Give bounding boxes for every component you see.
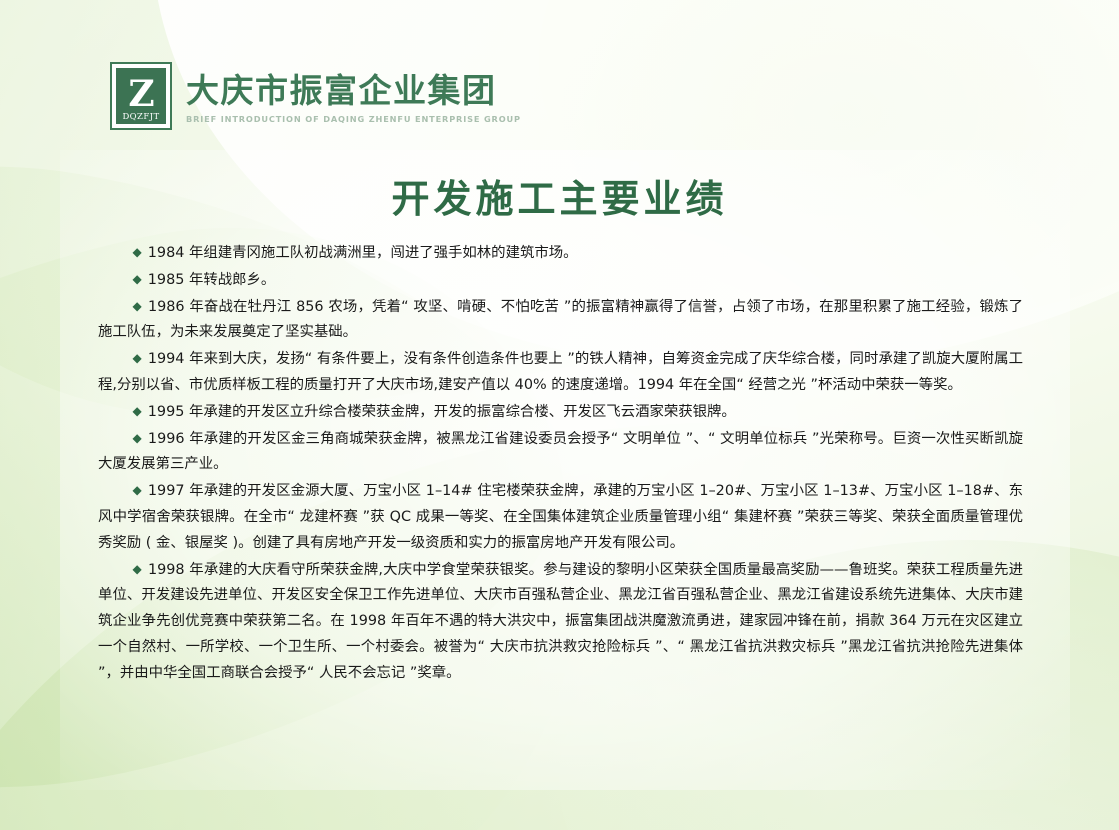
paragraph-text: 1985 年转战郎乡。: [148, 272, 276, 288]
paragraph-y1997: ◆1997 年承建的开发区金源大厦、万宝小区 1–14# 住宅楼荣获金牌，承建的…: [98, 478, 1023, 556]
logo-letter-z: Z: [128, 77, 153, 111]
bullet-diamond-icon: ◆: [133, 404, 142, 418]
page-title: 开发施工主要业绩: [0, 168, 1119, 223]
company-logo-icon: Z DQZFJT: [110, 62, 172, 130]
slide-page: Z DQZFJT 大庆市振富企业集团 BRIEF INTRODUCTION OF…: [0, 0, 1119, 830]
brand-header: Z DQZFJT 大庆市振富企业集团 BRIEF INTRODUCTION OF…: [110, 62, 521, 130]
paragraph-y1986: ◆1986 年奋战在牡丹江 856 农场，凭着“ 攻坚、啃硬、不怕吃苦 ”的振富…: [98, 294, 1023, 347]
logo-abbreviation: DQZFJT: [122, 113, 159, 122]
brand-text-block: 大庆市振富企业集团 BRIEF INTRODUCTION OF DAQING Z…: [186, 62, 521, 124]
paragraph-y1985: ◆1985 年转战郎乡。: [98, 267, 1023, 294]
paragraph-text: 1995 年承建的开发区立升综合楼荣获金牌，开发的振富综合楼、开发区飞云酒家荣获…: [148, 404, 736, 420]
bullet-diamond-icon: ◆: [133, 272, 142, 286]
paragraph-y1996: ◆1996 年承建的开发区金三角商城荣获金牌，被黑龙江省建设委员会授予“ 文明单…: [98, 426, 1023, 479]
bullet-diamond-icon: ◆: [133, 431, 142, 445]
bullet-diamond-icon: ◆: [133, 245, 142, 259]
brand-name-cn: 大庆市振富企业集团: [186, 74, 521, 109]
bullet-diamond-icon: ◆: [133, 299, 142, 313]
paragraph-y1998: ◆1998 年承建的大庆看守所荣获金牌,大庆中学食堂荣获银奖。参与建设的黎明小区…: [98, 557, 1023, 687]
paragraph-text: 1997 年承建的开发区金源大厦、万宝小区 1–14# 住宅楼荣获金牌，承建的万…: [98, 483, 1023, 551]
paragraph-text: 1984 年组建青冈施工队初战满洲里，闯进了强手如林的建筑市场。: [148, 245, 578, 261]
bullet-diamond-icon: ◆: [133, 351, 142, 365]
paragraph-text: 1998 年承建的大庆看守所荣获金牌,大庆中学食堂荣获银奖。参与建设的黎明小区荣…: [98, 562, 1023, 681]
bullet-diamond-icon: ◆: [133, 483, 142, 497]
paragraph-text: 1986 年奋战在牡丹江 856 农场，凭着“ 攻坚、啃硬、不怕吃苦 ”的振富精…: [98, 299, 1023, 341]
brand-name-en: BRIEF INTRODUCTION OF DAQING ZHENFU ENTE…: [186, 114, 521, 124]
content-body: ◆1984 年组建青冈施工队初战满洲里，闯进了强手如林的建筑市场。◆1985 年…: [98, 240, 1023, 687]
paragraph-text: 1994 年来到大庆，发扬“ 有条件要上，没有条件创造条件也要上 ”的铁人精神，…: [98, 351, 1023, 393]
bullet-diamond-icon: ◆: [133, 562, 142, 576]
paragraph-text: 1996 年承建的开发区金三角商城荣获金牌，被黑龙江省建设委员会授予“ 文明单位…: [98, 431, 1023, 473]
paragraph-y1994: ◆1994 年来到大庆，发扬“ 有条件要上，没有条件创造条件也要上 ”的铁人精神…: [98, 346, 1023, 399]
paragraph-y1995: ◆1995 年承建的开发区立升综合楼荣获金牌，开发的振富综合楼、开发区飞云酒家荣…: [98, 399, 1023, 426]
paragraph-y1984: ◆1984 年组建青冈施工队初战满洲里，闯进了强手如林的建筑市场。: [98, 240, 1023, 267]
